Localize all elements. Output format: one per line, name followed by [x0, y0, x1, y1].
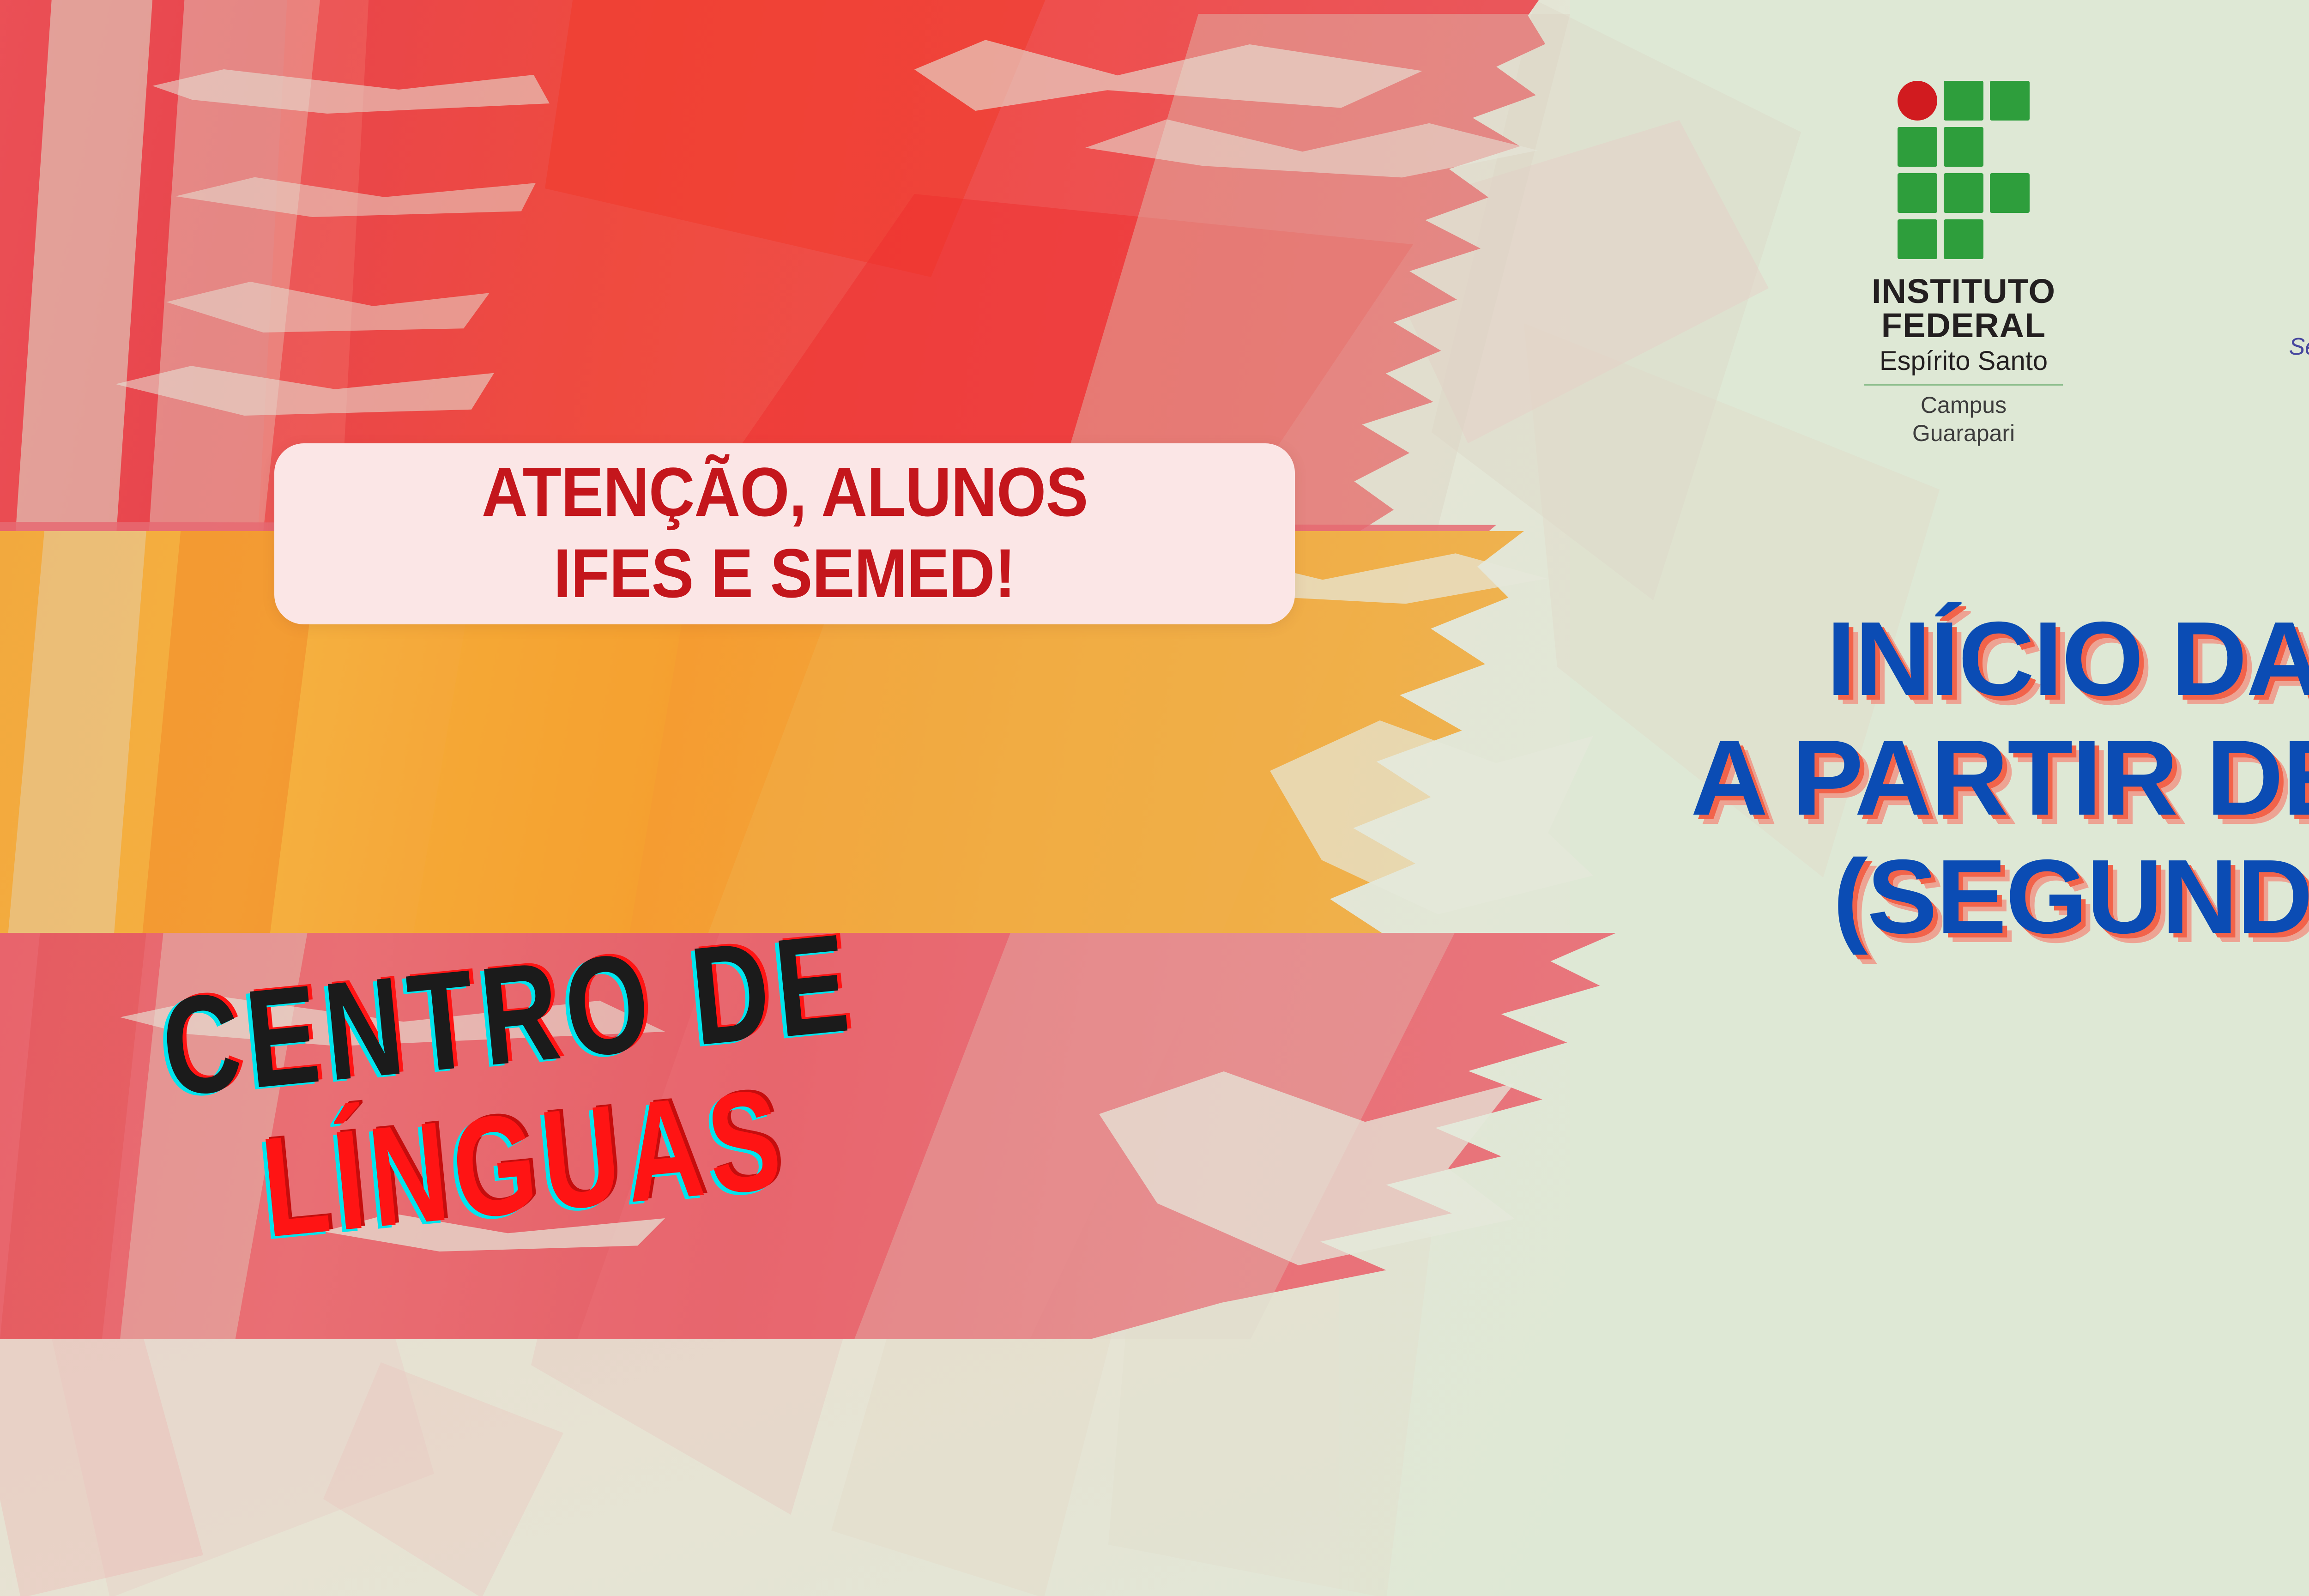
ifes-logo-gap	[1990, 219, 2030, 259]
ifes-logo-square	[1898, 173, 1937, 213]
semed-logo: SEMED Secretaria Municipal da Educação	[2170, 277, 2309, 393]
ifes-logo-square	[1990, 81, 2030, 121]
headline-line-3: (SEGUNDA-FEIRA)	[1432, 838, 2309, 956]
ifes-divider	[1864, 384, 2063, 386]
badge-line-1: ATENÇÃO, ALUNOS	[482, 457, 1088, 526]
attention-badge: ATENÇÃO, ALUNOS IFES E SEMED!	[274, 443, 1295, 624]
ifes-wordmark-instituto: INSTITUTO	[1872, 275, 2055, 308]
ifes-logo-red-dot	[1898, 81, 1937, 121]
ifes-wordmark-federal: FEDERAL	[1881, 308, 2046, 343]
ifes-logo-square	[1898, 219, 1937, 259]
ifes-logo-grid	[1898, 81, 2030, 259]
ifes-logo: INSTITUTO FEDERAL Espírito Santo Campus …	[1825, 81, 2102, 447]
poster-canvas: ATENÇÃO, ALUNOS IFES E SEMED! INSTITUTO …	[0, 0, 2309, 1596]
ifes-logo-square	[1944, 219, 1983, 259]
headline-line-2: A PARTIR DE 05/02/2024	[1432, 718, 2309, 838]
ifes-campus-line-2: Guarapari	[1912, 419, 2015, 447]
ifes-logo-square	[1898, 127, 1937, 167]
ifes-logo-square	[1944, 173, 1983, 213]
semed-subtitle-line-2: Educação	[2170, 365, 2309, 393]
headline-block: INÍCIO DAS AULAS A PARTIR DE 05/02/2024 …	[1432, 600, 2309, 956]
ifes-campus-line-1: Campus	[1921, 391, 2007, 419]
ifes-logo-square	[1944, 81, 1983, 121]
ifes-wordmark-espirito-santo: Espírito Santo	[1880, 345, 2048, 378]
ifes-logo-square	[1944, 127, 1983, 167]
semed-subtitle-line-1: Secretaria Municipal da	[2170, 333, 2309, 361]
ifes-logo-square	[1990, 173, 2030, 213]
ifes-logo-gap	[1990, 127, 2030, 167]
semed-acronym: SEMED	[2170, 277, 2309, 329]
badge-line-2: IFES E SEMED!	[554, 538, 1015, 608]
headline-line-1: INÍCIO DAS AULAS	[1432, 600, 2309, 718]
